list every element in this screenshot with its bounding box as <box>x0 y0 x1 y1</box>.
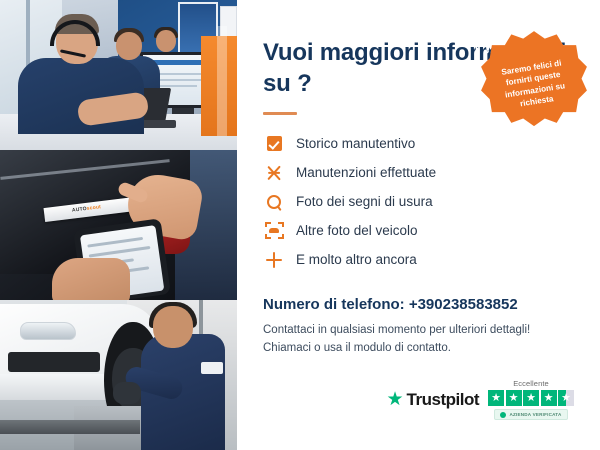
badge-text: Saremo felici di fornirti queste informa… <box>492 56 576 113</box>
star-5: ★ <box>558 390 574 406</box>
feature-label: Storico manutentivo <box>296 136 415 151</box>
verified-badge: AZIENDA VERIFICATA <box>494 409 567 420</box>
strip-brand-label: AUTOscout <box>72 204 102 214</box>
car-headlight <box>20 322 76 340</box>
phone-number[interactable]: Numero di telefono: +390238583852 <box>263 296 570 313</box>
contact-line-1: Contattaci in qualsiasi momento per ulte… <box>263 322 570 340</box>
list-item: Altre foto del veicolo <box>263 216 570 245</box>
trustpilot-star-icon: ★ <box>387 390 404 409</box>
feature-label: E molto altro ancora <box>296 252 417 267</box>
contact-instructions: Contattaci in qualsiasi momento per ulte… <box>263 322 570 358</box>
scan-car-icon <box>263 220 285 242</box>
phone-row <box>89 246 151 258</box>
second-agent-head <box>116 32 142 60</box>
promo-card: AUTOscout <box>0 0 600 450</box>
feature-label: Altre foto del veicolo <box>296 223 418 238</box>
star-1: ★ <box>488 390 504 406</box>
feature-label: Manutenzioni effettuate <box>296 165 436 180</box>
list-item: Foto dei segni di usura <box>263 187 570 216</box>
rating-label: Eccellente <box>513 379 549 388</box>
phone-row <box>87 237 143 248</box>
trustpilot-logo: ★ Trustpilot <box>387 390 480 410</box>
strip-brand-b: scout <box>86 204 101 212</box>
mechanic-glove <box>113 382 141 404</box>
third-agent-head <box>156 30 176 52</box>
verified-check-icon <box>500 412 506 418</box>
checkbox-icon <box>263 133 285 155</box>
vehicle-inspection-photo: AUTOscout <box>0 150 237 300</box>
trustpilot-rating: Eccellente ★ ★ ★ ★ ★ AZIENDA VERIFICATA <box>488 379 574 420</box>
contact-line-2: Chiamaci o usa il modulo di contatto. <box>263 340 570 358</box>
rating-stars: ★ ★ ★ ★ ★ <box>488 390 574 406</box>
trustpilot-widget[interactable]: ★ Trustpilot Eccellente ★ ★ ★ ★ ★ AZIEND… <box>387 379 575 420</box>
car-grille <box>8 352 100 372</box>
strip-brand-a: AUTO <box>72 206 87 214</box>
tools-icon <box>263 162 285 184</box>
inspector-hand-lower <box>52 258 130 300</box>
info-panel: Vuoi maggiori informazioni su ? Storico … <box>237 0 600 450</box>
list-item: Manutenzioni effettuate <box>263 158 570 187</box>
orange-banner-stripe <box>217 26 227 136</box>
plus-icon <box>263 249 285 271</box>
trustpilot-name: Trustpilot <box>407 390 479 410</box>
feature-list: Storico manutentivo Manutenzioni effettu… <box>263 129 570 274</box>
mechanic-wheel-photo <box>0 300 237 450</box>
car-lift <box>0 420 140 434</box>
status-badge: Saremo felici di fornirti queste informa… <box>480 30 588 138</box>
uniform-patch <box>201 362 223 374</box>
feature-label: Foto dei segni di usura <box>296 194 433 209</box>
star-4: ★ <box>541 390 557 406</box>
magnifier-icon <box>263 191 285 213</box>
title-divider <box>263 112 297 115</box>
photo-collage: AUTOscout <box>0 0 237 450</box>
star-3: ★ <box>523 390 539 406</box>
star-2: ★ <box>506 390 522 406</box>
list-item: E molto altro ancora <box>263 245 570 274</box>
verified-label: AZIENDA VERIFICATA <box>509 412 561 417</box>
call-center-agents-photo <box>0 0 237 150</box>
mechanic-head <box>153 306 193 348</box>
